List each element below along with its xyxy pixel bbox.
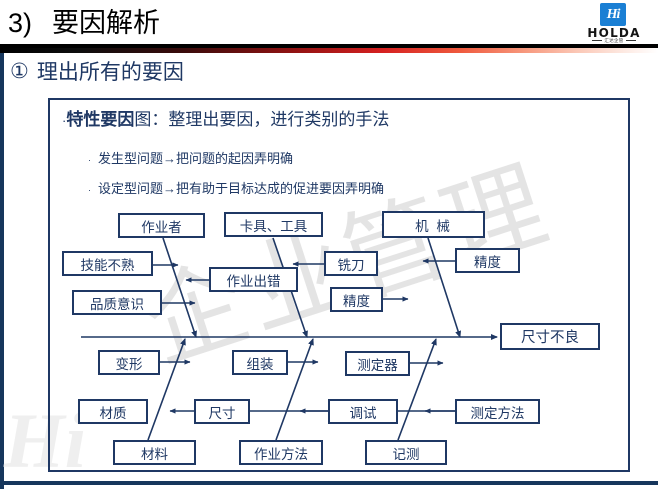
subtitle-label: 理出所有的要因 bbox=[37, 56, 184, 86]
main-bullet: ·特性要因图：整理出要因，进行类别的手法 bbox=[62, 105, 389, 130]
page-title: 要因解析 bbox=[52, 10, 160, 37]
main-bullet-emphasis: 特性要因 bbox=[66, 110, 134, 129]
main-bullet-text: 图：整理出要因，进行类别的手法 bbox=[134, 110, 389, 129]
cause-box-work-error[interactable]: 作业出错 bbox=[209, 267, 298, 292]
slide-number: 3) bbox=[8, 10, 32, 37]
bottom-accent-bar bbox=[0, 481, 658, 485]
cause-box-deform[interactable]: 变形 bbox=[98, 350, 160, 375]
sub-bullet-2-marker: · bbox=[88, 185, 91, 195]
cause-box-dimension[interactable]: 尺寸 bbox=[194, 399, 250, 424]
cause-box-measuring-device[interactable]: 测定器 bbox=[345, 351, 410, 376]
sub-bullet-2-right: 把有助于目标达成的促进要因弄明确 bbox=[176, 181, 384, 196]
cause-box-measuring-method[interactable]: 测定方法 bbox=[455, 399, 540, 424]
sub-bullet-1-marker: · bbox=[88, 155, 91, 165]
sub-bullet-1-right: 把问题的起因弄明确 bbox=[176, 151, 293, 166]
header-rule-gradient bbox=[0, 48, 658, 53]
cause-box-precision-2[interactable]: 精度 bbox=[330, 287, 383, 312]
cause-box-debug[interactable]: 调试 bbox=[328, 399, 398, 424]
sub-bullet-2-left: 设定型问题 bbox=[98, 181, 163, 196]
cause-box-milling-cutter[interactable]: 铣刀 bbox=[324, 251, 378, 276]
sub-bullet-2: ·设定型问题→把有助于目标达成的促进要因弄明确 bbox=[88, 178, 384, 197]
category-box-measurement[interactable]: 记测 bbox=[365, 440, 447, 465]
sub-bullet-1: ·发生型问题→把问题的起因弄明确 bbox=[88, 148, 293, 167]
holda-logo-glyph: Hi bbox=[607, 8, 620, 22]
section-subtitle: ① 理出所有的要因 bbox=[10, 56, 184, 86]
category-box-material[interactable]: 材料 bbox=[113, 440, 196, 465]
sub-bullet-1-left: 发生型问题 bbox=[98, 151, 163, 166]
subtitle-marker-icon: ① bbox=[10, 59, 29, 84]
effect-box[interactable]: 尺寸不良 bbox=[500, 323, 600, 350]
cause-box-assembly[interactable]: 组装 bbox=[232, 350, 288, 375]
left-accent-bar bbox=[0, 53, 4, 489]
holda-logo: Hi HOLDA 汇达企管 bbox=[578, 3, 650, 45]
slide-canvas: 3) 要因解析 Hi HOLDA 汇达企管 ① 理出所有的要因 企业管理 Hi … bbox=[0, 0, 658, 493]
cause-box-texture[interactable]: 材质 bbox=[78, 399, 148, 424]
holda-sub-wordmark: 汇达企管 bbox=[578, 39, 650, 44]
sub-bullet-1-arrow-icon: → bbox=[163, 151, 176, 166]
cause-box-precision-1[interactable]: 精度 bbox=[455, 248, 520, 273]
sub-bullet-2-arrow-icon: → bbox=[163, 181, 176, 196]
category-box-operator[interactable]: 作业者 bbox=[118, 213, 205, 238]
category-box-work-method[interactable]: 作业方法 bbox=[239, 440, 323, 465]
category-box-machine[interactable]: 机 械 bbox=[382, 211, 485, 238]
category-box-fixture-tool[interactable]: 卡具、工具 bbox=[224, 212, 323, 237]
holda-logo-icon: Hi bbox=[600, 3, 626, 26]
slide-title-row: 3) 要因解析 bbox=[8, 2, 548, 44]
cause-box-quality-awareness[interactable]: 品质意识 bbox=[72, 290, 162, 315]
cause-box-skill[interactable]: 技能不熟 bbox=[62, 251, 153, 276]
